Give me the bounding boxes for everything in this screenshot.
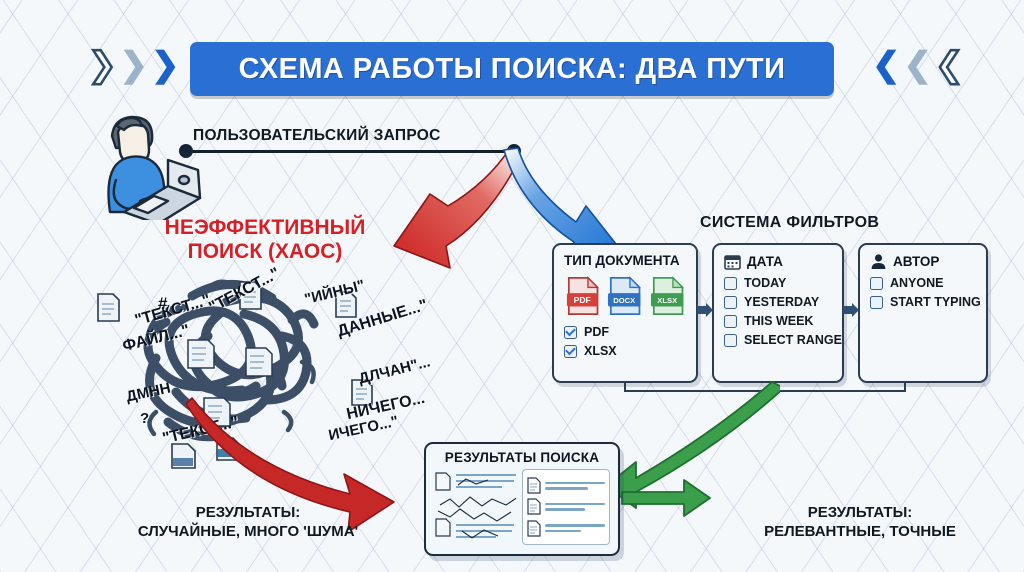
chaos-text-fragment: ДАННЫЕ..." — [335, 297, 430, 342]
search-results-panes — [434, 469, 610, 545]
filter-connector-arrow — [842, 302, 860, 324]
pdf-file-icon: PDF — [565, 275, 601, 317]
search-results-title: РЕЗУЛЬТАТЫ ПОИСКА — [434, 450, 610, 465]
filter-option[interactable]: SELECT RANGE — [724, 333, 832, 347]
file-type-icons: PDF DOCX XLSX — [565, 275, 686, 317]
chaos-text-fragment: ? — [140, 410, 149, 427]
result-text-lines — [545, 524, 605, 532]
filter-option[interactable]: XLSX — [564, 344, 686, 358]
filter-card-title: ДАТА — [724, 253, 832, 270]
filter-card-title: АВТОР — [870, 253, 976, 270]
chaos-text-fragment: ДМНН — [125, 380, 172, 406]
chaos-result-label: РЕЗУЛЬТАТЫ: СЛУЧАЙНЫЕ, МНОГО 'ШУМА' — [88, 504, 408, 542]
svg-text:PDF: PDF — [574, 295, 591, 305]
chaos-result-line2: СЛУЧАЙНЫЕ, МНОГО 'ШУМА' — [88, 523, 408, 542]
chaos-heading: НЕЭФФЕКТИВНЫЙ ПОИСК (ХАОС) — [150, 216, 380, 263]
chaos-result-line1: РЕЗУЛЬТАТЫ: — [88, 504, 408, 523]
result-item — [527, 520, 605, 537]
good-result-line1: РЕЗУЛЬТАТЫ: — [710, 504, 1010, 523]
checkbox-icon[interactable] — [724, 315, 737, 328]
filter-option[interactable]: START TYPING — [870, 295, 976, 309]
chaos-text-fragment: "ТЕКСТ..." — [206, 265, 283, 317]
chaos-text-fragment: "ИЙНЫ" — [303, 277, 367, 308]
page-title-banner: СХЕМА РАБОТЫ ПОИСКА: ДВА ПУТИ — [190, 42, 834, 96]
chaos-heading-line1: НЕЭФФЕКТИВНЫЙ — [150, 216, 380, 240]
filter-option[interactable]: YESTERDAY — [724, 295, 832, 309]
filter-connector-arrow — [696, 302, 714, 324]
result-text-lines — [545, 482, 605, 490]
search-results-card[interactable]: РЕЗУЛЬТАТЫ ПОИСКА — [424, 442, 620, 556]
filter-option-label: TODAY — [744, 276, 786, 290]
filter-card-date[interactable]: ДАТА TODAY YESTERDAY THIS WEEK SELECT RA… — [712, 243, 844, 383]
filter-option-label: PDF — [584, 325, 609, 339]
xlsx-file-icon: XLSX — [650, 275, 686, 317]
person-icon — [870, 253, 887, 270]
svg-text:DOCX: DOCX — [614, 296, 637, 305]
document-icon — [527, 477, 541, 494]
document-icon — [527, 520, 541, 537]
chevron-left-icon: ❮ — [904, 48, 933, 82]
user-illustration — [72, 108, 202, 220]
chevron-left-icon: ❮ — [935, 48, 964, 82]
checkbox-icon[interactable] — [724, 334, 737, 347]
filter-option-label: SELECT RANGE — [744, 333, 842, 347]
chevron-left-icon: ❮ — [872, 48, 901, 82]
filter-option-label: THIS WEEK — [744, 314, 813, 328]
result-item — [527, 477, 605, 494]
chevron-group-right: ❮ ❮ ❮ — [872, 48, 964, 82]
filter-card-document-type[interactable]: ТИП ДОКУМЕНТА PDF DOCX XLSX — [552, 243, 698, 383]
filter-option-label: START TYPING — [890, 295, 981, 309]
chevron-right-icon: ❯ — [88, 48, 117, 82]
chaos-text-fragment: ДЛЧАН"... — [357, 353, 432, 387]
filter-card-title-text: АВТОР — [893, 254, 939, 269]
chaos-heading-line2: ПОИСК (ХАОС) — [150, 240, 380, 264]
good-result-label: РЕЗУЛЬТАТЫ: РЕЛЕВАНТНЫЕ, ТОЧНЫЕ — [710, 504, 1010, 542]
checkbox-icon[interactable] — [870, 277, 883, 290]
chevron-right-icon: ❯ — [151, 48, 180, 82]
chaos-text-fragment: ФАЙЛ..." — [121, 322, 192, 356]
filter-card-title-text: ДАТА — [747, 254, 783, 269]
document-icon — [527, 498, 541, 515]
query-node-start — [179, 144, 193, 158]
filter-option-label: ANYONE — [890, 276, 943, 290]
result-text-lines — [545, 503, 605, 511]
filter-option[interactable]: THIS WEEK — [724, 314, 832, 328]
filter-option-label: YESTERDAY — [744, 295, 819, 309]
filter-option[interactable]: TODAY — [724, 276, 832, 290]
good-result-line2: РЕЛЕВАНТНЫЕ, ТОЧНЫЕ — [710, 523, 1010, 542]
filter-option-label: XLSX — [584, 344, 617, 358]
messy-results-pane — [434, 469, 516, 545]
red-branch-arrow — [394, 148, 520, 268]
result-item — [527, 498, 605, 515]
query-label: ПОЛЬЗОВАТЕЛЬСКИЙ ЗАПРОС — [193, 127, 441, 145]
filter-option[interactable]: PDF — [564, 325, 686, 339]
chevron-group-left: ❯ ❯ ❯ — [88, 48, 180, 82]
filter-option[interactable]: ANYONE — [870, 276, 976, 290]
checkbox-checked-icon[interactable] — [564, 345, 577, 358]
checkbox-icon[interactable] — [724, 296, 737, 309]
checkbox-icon[interactable] — [724, 277, 737, 290]
checkbox-icon[interactable] — [870, 296, 883, 309]
page-title: СХЕМА РАБОТЫ ПОИСКА: ДВА ПУТИ — [239, 53, 786, 86]
svg-text:XLSX: XLSX — [657, 296, 678, 305]
filter-card-author[interactable]: АВТОР ANYONE START TYPING — [858, 243, 988, 383]
checkbox-checked-icon[interactable] — [564, 326, 577, 339]
calendar-icon — [724, 253, 741, 270]
docx-file-icon: DOCX — [607, 275, 643, 317]
filter-card-title: ТИП ДОКУМЕНТА — [564, 253, 686, 268]
filters-heading: СИСТЕМА ФИЛЬТРОВ — [700, 214, 879, 232]
clean-results-pane — [522, 469, 610, 545]
chaos-text-fragment: # — [158, 294, 167, 314]
infographic-canvas: ❯ ❯ ❯ СХЕМА РАБОТЫ ПОИСКА: ДВА ПУТИ ❮ ❮ … — [0, 0, 1024, 572]
chevron-right-icon: ❯ — [120, 48, 149, 82]
